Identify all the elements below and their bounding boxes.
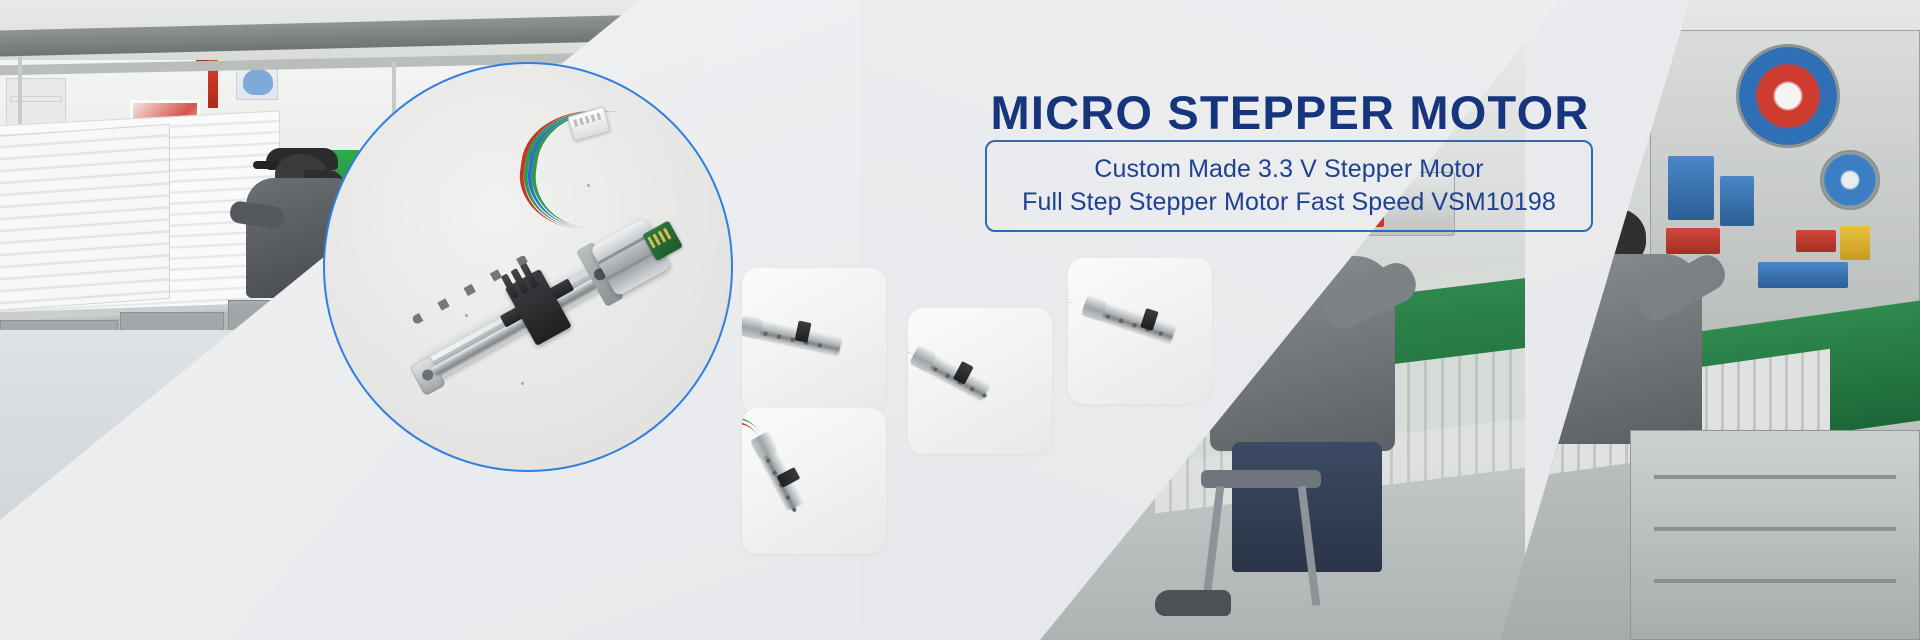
subtitle-box: Custom Made 3.3 V Stepper Motor Full Ste…: [985, 140, 1593, 232]
stepper-motor-thumb-1[interactable]: [742, 268, 886, 414]
page-title: MICRO STEPPER MOTOR: [980, 88, 1600, 139]
stepper-motor-thumb-4[interactable]: [742, 408, 886, 554]
subtitle-line-1: Custom Made 3.3 V Stepper Motor: [1094, 153, 1483, 187]
product-banner: MICRO STEPPER MOTOR Custom Made 3.3 V St…: [0, 0, 1920, 640]
stepper-motor-thumb-3[interactable]: [1068, 258, 1212, 404]
subtitle-line-2: Full Step Stepper Motor Fast Speed VSM10…: [1022, 186, 1556, 220]
stepper-motor-thumb-2[interactable]: [908, 308, 1052, 454]
micro-linear-stepper-motor-actuator[interactable]: [323, 62, 733, 472]
